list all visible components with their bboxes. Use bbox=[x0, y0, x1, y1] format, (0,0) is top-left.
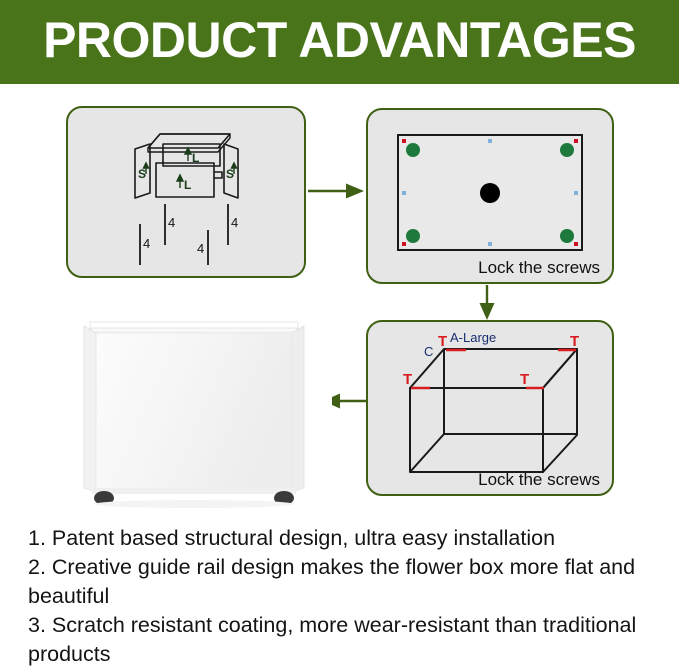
label-back-panel: L bbox=[192, 151, 199, 165]
panel-lock-screws-base: Lock the screws bbox=[366, 108, 614, 284]
arrow-right-explode-to-screws bbox=[306, 182, 368, 200]
red-rail-highlights bbox=[411, 350, 576, 388]
advantage-item-1: 1. Patent based structural design, ultra… bbox=[28, 524, 664, 553]
advantage-item-2: 2. Creative guide rail design makes the … bbox=[28, 553, 664, 611]
center-drain-hole bbox=[480, 183, 500, 203]
assembled-frame-drawing: T T T T A-Large C bbox=[368, 322, 612, 494]
arrow-down-screws-to-frame bbox=[478, 284, 496, 322]
label-rail-3: 4 bbox=[143, 236, 150, 251]
advantage-item-3: 3. Scratch resistant coating, more wear-… bbox=[28, 611, 664, 669]
page-title: PRODUCT ADVANTAGES bbox=[0, 0, 679, 84]
label-front-panel: L bbox=[184, 178, 191, 192]
base-plate-drawing bbox=[368, 110, 612, 282]
exploded-assembly-drawing: S S L L 4 4 4 4 bbox=[68, 108, 304, 276]
svg-text:T: T bbox=[403, 371, 412, 388]
panel-frame-caption: Lock the screws bbox=[478, 470, 600, 490]
panel-exploded-assembly: S S L L 4 4 4 4 bbox=[66, 106, 306, 278]
panel-assembled-frame: T T T T A-Large C Lock the screws bbox=[366, 320, 614, 496]
product-photo bbox=[52, 292, 332, 520]
advantages-list: 1. Patent based structural design, ultra… bbox=[28, 524, 664, 669]
svg-text:T: T bbox=[570, 333, 579, 350]
label-side-right: S bbox=[226, 167, 234, 181]
label-rail-2: 4 bbox=[231, 215, 238, 230]
panel-screws-caption: Lock the screws bbox=[478, 258, 600, 278]
label-side-left: S bbox=[138, 167, 146, 181]
header-banner: PRODUCT ADVANTAGES bbox=[0, 0, 679, 84]
white-planter-box-illustration bbox=[52, 292, 332, 520]
label-rail-1: 4 bbox=[168, 215, 175, 230]
label-c: C bbox=[424, 344, 433, 359]
svg-text:T: T bbox=[520, 371, 529, 388]
label-a-large: A-Large bbox=[450, 330, 496, 345]
label-rail-4: 4 bbox=[197, 241, 204, 256]
svg-text:T: T bbox=[438, 333, 447, 350]
